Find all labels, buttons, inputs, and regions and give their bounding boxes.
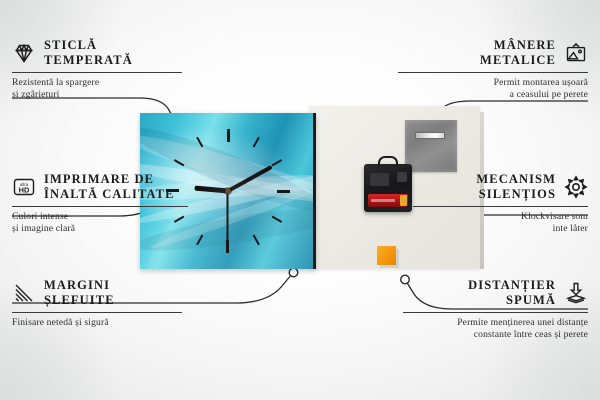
hanger-slot <box>415 132 445 139</box>
gear-icon <box>564 175 588 199</box>
feature-title-line2: SILENȚIOS <box>476 187 556 202</box>
feature-subtitle-line2: și zgârieturi <box>12 89 192 101</box>
feature-subtitle-line2: constante între ceas și perete <box>403 329 588 341</box>
battery-label-stripe <box>371 199 395 202</box>
mechanism-hanger-loop <box>378 156 398 167</box>
feature-title-line2: ÎNALTĂ CALITATE <box>44 187 175 202</box>
feature-title-line1: MÂNERE <box>480 38 556 53</box>
feature-divider <box>403 312 588 313</box>
svg-text:HD: HD <box>19 185 30 194</box>
feature-tempered-glass: STICLĂ TEMPERATĂ Rezistentă la spargere … <box>12 38 192 101</box>
feature-subtitle-line1: Permite menținerea unei distanțe <box>403 317 588 329</box>
feature-polished-edges: MARGINI ȘLEFUITE Finisare netedă și sigu… <box>12 278 192 329</box>
clock-center-cap <box>225 188 231 194</box>
feature-subtitle-line2: a ceasului pe perete <box>398 89 588 101</box>
metal-hanger-plate <box>405 120 457 172</box>
feature-divider <box>12 72 182 73</box>
feature-subtitle-line1: Klockvisare som <box>413 211 588 223</box>
foam-spacer-pad <box>377 246 396 265</box>
feature-foam-spacer: DISTANȚIER SPUMĂ Permite menținerea unei… <box>403 278 588 341</box>
feature-title-line2: ȘLEFUITE <box>44 293 115 308</box>
feature-subtitle-line1: Permit montarea ușoară <box>398 77 588 89</box>
feature-divider <box>12 312 182 313</box>
down-arrow-stack-icon <box>564 281 588 305</box>
feature-divider <box>398 72 588 73</box>
feature-subtitle-line1: Culori intense <box>12 211 202 223</box>
ultra-hd-icon: ultra HD <box>12 175 36 199</box>
clock-mechanism <box>364 164 412 212</box>
feature-title-line2: METALICE <box>480 53 556 68</box>
feature-silent-mechanism: MECANISM SILENȚIOS Klockvisar <box>413 172 588 235</box>
feature-divider <box>12 206 188 207</box>
beveled-edge-icon <box>12 281 36 305</box>
feature-divider <box>413 206 588 207</box>
feature-title-line1: MARGINI <box>44 278 115 293</box>
feature-subtitle-line2: și imagine clară <box>12 223 202 235</box>
mechanism-dial-detail <box>397 172 407 182</box>
feature-title-line1: DISTANȚIER <box>468 278 556 293</box>
picture-frame-icon <box>564 41 588 65</box>
battery-positive-cap <box>400 195 407 206</box>
feature-title-line2: TEMPERATĂ <box>44 53 133 68</box>
feature-title-line1: MECANISM <box>476 172 556 187</box>
feature-title-line1: STICLĂ <box>44 38 133 53</box>
feature-subtitle-line1: Rezistentă la spargere <box>12 77 192 89</box>
feature-title-line1: IMPRIMARE DE <box>44 172 175 187</box>
battery <box>368 194 408 207</box>
feature-subtitle-line2: inte låter <box>413 223 588 235</box>
mechanism-housing-detail <box>370 173 389 186</box>
infographic-canvas: STICLĂ TEMPERATĂ Rezistentă la spargere … <box>0 0 600 400</box>
feature-high-quality-print: ultra HD IMPRIMARE DE ÎNALTĂ CALITATE Cu… <box>12 172 202 235</box>
feature-subtitle-line1: Finisare netedă și sigură <box>12 317 192 329</box>
feature-title-line2: SPUMĂ <box>468 293 556 308</box>
diamond-icon <box>12 41 36 65</box>
feature-metal-handles: MÂNERE METALICE Permit montarea ușoară a… <box>398 38 588 101</box>
